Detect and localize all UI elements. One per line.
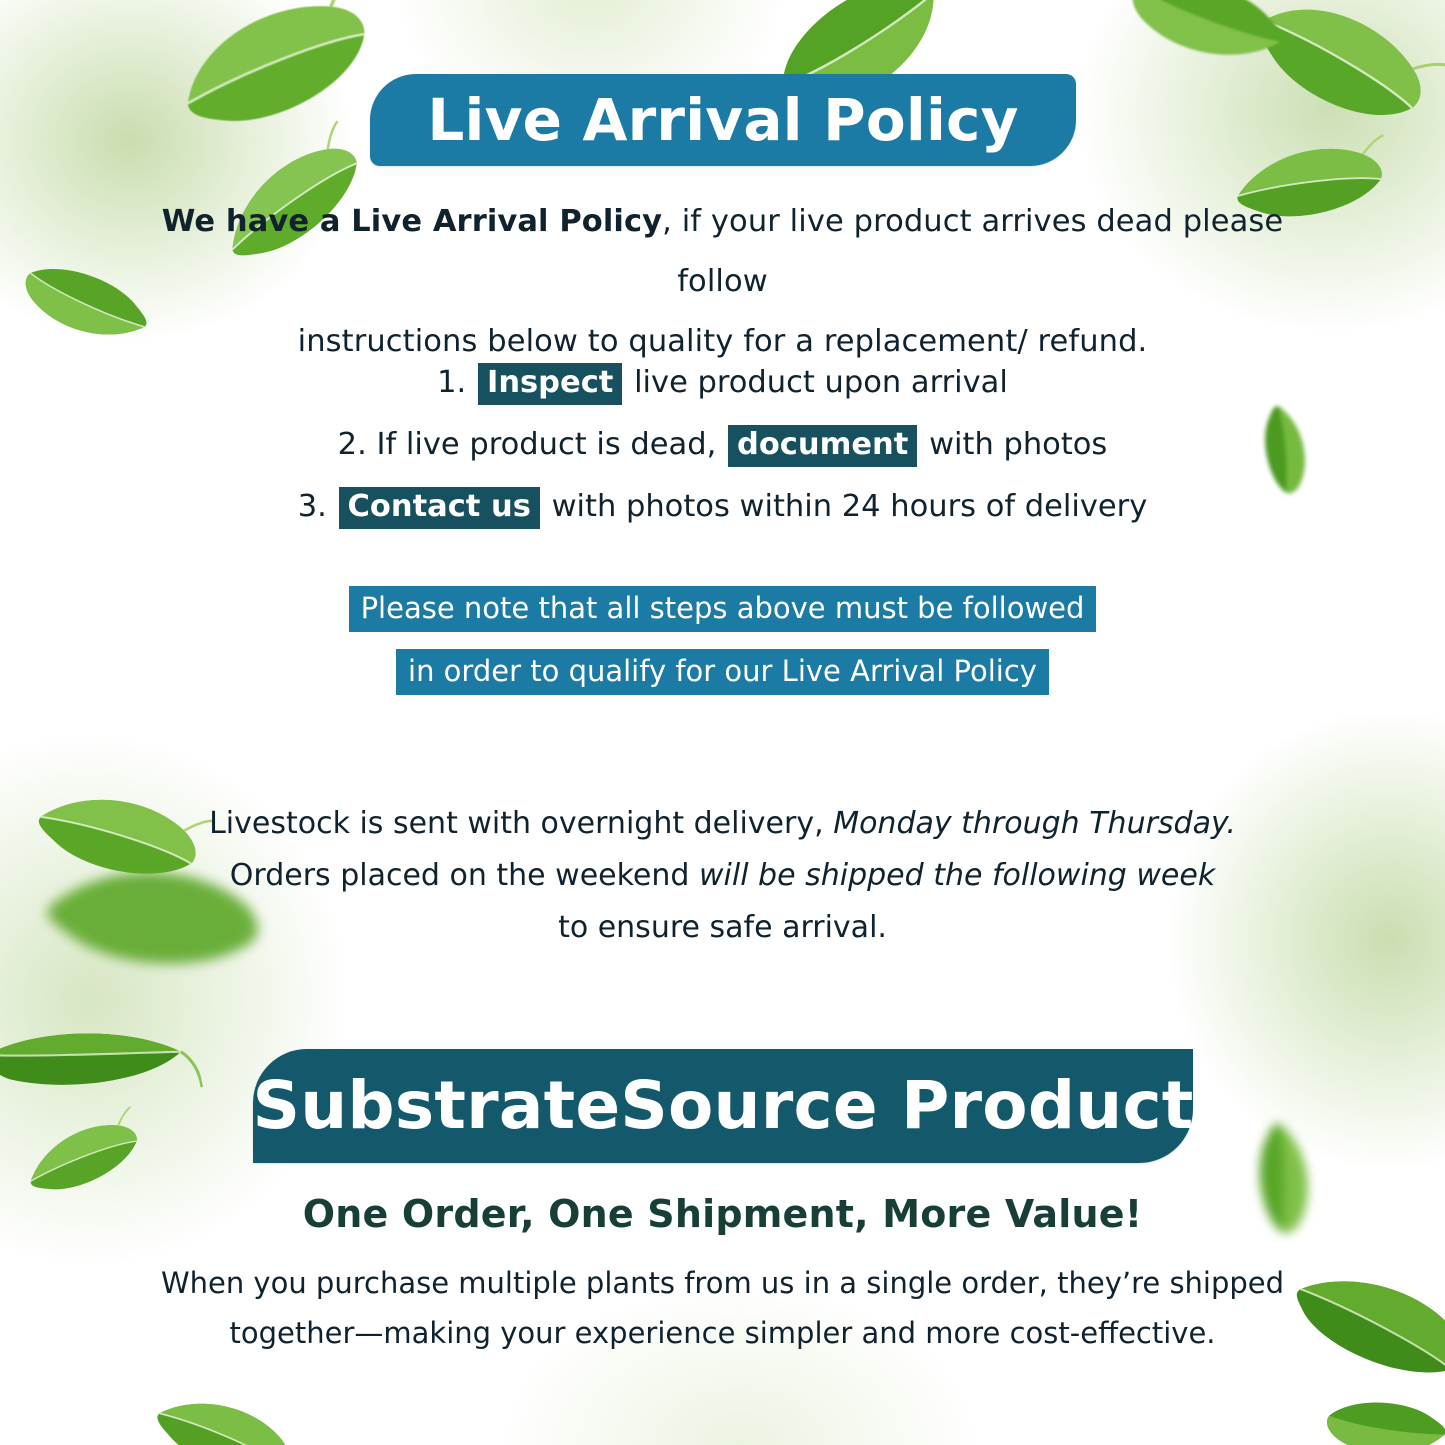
policy-note-line-1-text: Please note that all steps above must be…	[349, 586, 1097, 632]
live-arrival-policy-graphic: Live Arrival Policy We have a Live Arriv…	[0, 0, 1445, 1445]
shipping-line2-plain: Orders placed on the weekend	[230, 858, 690, 893]
intro-line1-rest: , if your live product arrives dead plea…	[662, 204, 1283, 299]
value-paragraph: When you purchase multiple plants from u…	[150, 1258, 1295, 1358]
steps-list: 1. Inspect live product upon arrival 2. …	[120, 352, 1325, 538]
list-item: 3. Contact us with photos within 24 hour…	[120, 476, 1325, 538]
policy-note-line-2: in order to qualify for our Live Arrival…	[0, 649, 1445, 695]
shipping-line3: to ensure safe arrival.	[558, 910, 887, 945]
list-item: 2. If live product is dead, document wit…	[120, 414, 1325, 476]
policy-note-line-2-text: in order to qualify for our Live Arrival…	[396, 649, 1049, 695]
step-1-highlight: Inspect	[478, 363, 622, 405]
step-3-after: with photos within 24 hours of delivery	[552, 489, 1148, 524]
shipping-paragraph: Livestock is sent with overnight deliver…	[170, 798, 1275, 954]
step-1-after: live product upon arrival	[634, 365, 1008, 400]
substrate-source-product-banner: SubstrateSource Product	[253, 1049, 1193, 1163]
value-line1: When you purchase multiple plants from u…	[161, 1266, 1284, 1300]
value-heading: One Order, One Shipment, More Value!	[170, 1192, 1275, 1236]
shipping-line1-plain: Livestock is sent with overnight deliver…	[209, 806, 824, 841]
step-2-number: 2.	[338, 427, 367, 462]
value-line2: together—making your experience simpler …	[230, 1316, 1216, 1350]
policy-note-line-1: Please note that all steps above must be…	[0, 586, 1445, 632]
substrate-source-product-title: SubstrateSource Product	[252, 1073, 1193, 1139]
step-2-highlight: document	[728, 425, 917, 467]
list-item: 1. Inspect live product upon arrival	[120, 352, 1325, 414]
shipping-line1-italic: Monday through Thursday.	[833, 806, 1236, 841]
live-arrival-policy-banner: Live Arrival Policy	[370, 74, 1076, 166]
step-3-highlight: Contact us	[339, 487, 540, 529]
intro-paragraph: We have a Live Arrival Policy, if your l…	[120, 192, 1325, 372]
intro-bold-lead: We have a Live Arrival Policy	[162, 204, 662, 239]
shipping-line2-italic: will be shipped the following week	[699, 858, 1215, 893]
step-1-number: 1.	[437, 365, 466, 400]
step-2-after: with photos	[929, 427, 1107, 462]
live-arrival-policy-title: Live Arrival Policy	[427, 91, 1018, 149]
step-2-before: If live product is dead,	[376, 427, 716, 462]
step-3-number: 3.	[298, 489, 327, 524]
